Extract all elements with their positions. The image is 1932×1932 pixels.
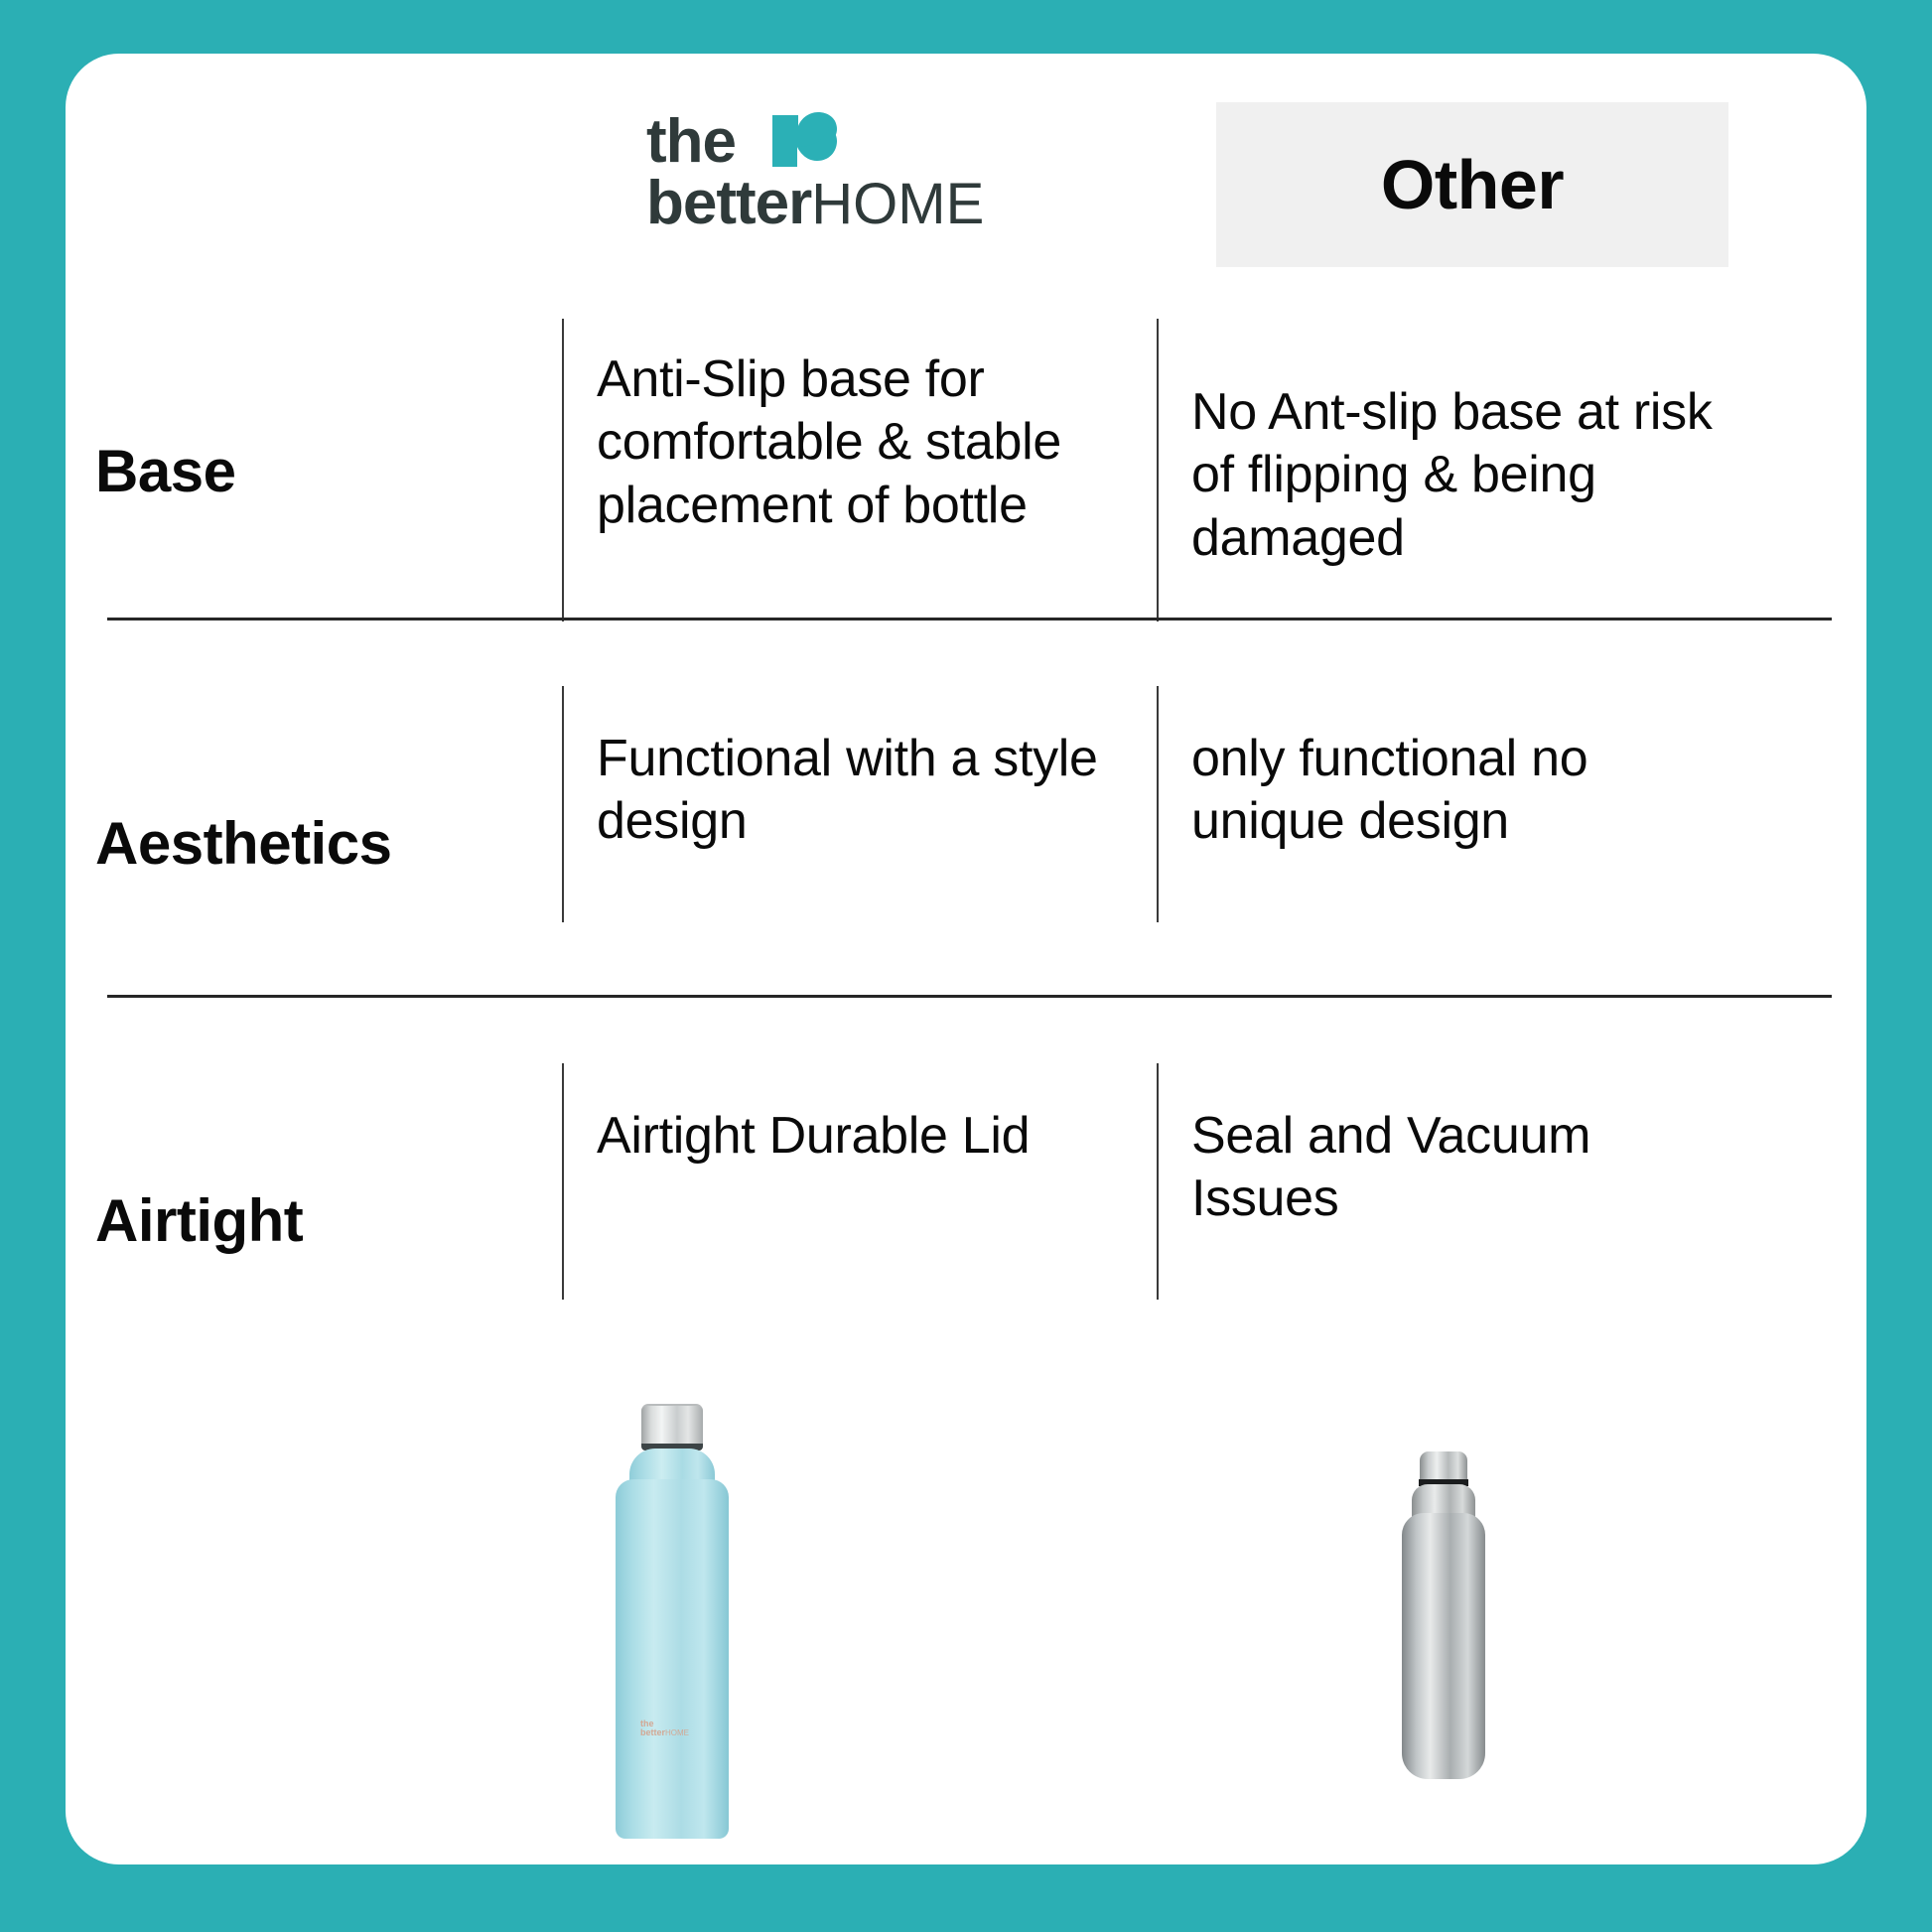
bottle-logo-line2: better [640, 1727, 665, 1737]
row-separator-1 [107, 618, 1832, 621]
ours-value-base: Anti-Slip base for comfortable & stable … [597, 348, 1138, 537]
bottle-body-ours [616, 1479, 729, 1839]
table-row-airtight: Airtight Airtight Durable Lid Seal and V… [66, 1022, 1866, 1419]
row-separator-2 [107, 995, 1832, 998]
brand-logo-better: better [646, 169, 811, 237]
bottle-cap-other [1420, 1451, 1467, 1481]
other-value-base: No Ant-slip base at risk of flipping & b… [1191, 381, 1747, 570]
row-divider-left-airtight [562, 1063, 564, 1300]
table-row-base: Base Anti-Slip base for comfortable & st… [66, 267, 1866, 674]
comparison-infographic: the betterHOME Other Base Anti-Slip base… [0, 0, 1932, 1932]
ours-value-aesthetics: Functional with a style design [597, 728, 1138, 854]
other-value-airtight: Seal and Vacuum Issues [1191, 1105, 1747, 1231]
product-image-ours: the betterHOME [613, 1404, 732, 1839]
ours-value-airtight: Airtight Durable Lid [597, 1105, 1138, 1168]
competitor-header-chip: Other [1216, 102, 1728, 267]
competitor-header-label: Other [1381, 145, 1564, 224]
content-card: the betterHOME Other Base Anti-Slip base… [66, 54, 1866, 1864]
heart-icon [767, 109, 841, 171]
brand-logo-line1: the [646, 111, 736, 173]
table-row-aesthetics: Aesthetics Functional with a style desig… [66, 644, 1866, 1041]
feature-label-base: Base [95, 267, 542, 674]
bottle-body-other [1402, 1513, 1485, 1779]
brand-logo: the betterHOME [646, 111, 1043, 260]
feature-label-airtight: Airtight [95, 1022, 542, 1419]
other-value-aesthetics: only functional no unique design [1191, 728, 1747, 854]
row-divider-left-aesthetics [562, 686, 564, 922]
row-divider-right-aesthetics [1157, 686, 1159, 922]
bottle-cap-ours [641, 1404, 703, 1448]
row-divider-right-airtight [1157, 1063, 1159, 1300]
feature-label-aesthetics: Aesthetics [95, 644, 542, 1041]
brand-logo-home: HOME [811, 172, 984, 236]
bottle-logo-line3: HOME [665, 1728, 689, 1737]
row-divider-right-base [1157, 319, 1159, 621]
brand-logo-line2: betterHOME [646, 173, 984, 234]
product-images: the betterHOME [66, 1364, 1866, 1864]
row-divider-left-base [562, 319, 564, 621]
bottle-embossed-logo: the betterHOME [640, 1720, 710, 1738]
product-image-other [1394, 1451, 1489, 1779]
